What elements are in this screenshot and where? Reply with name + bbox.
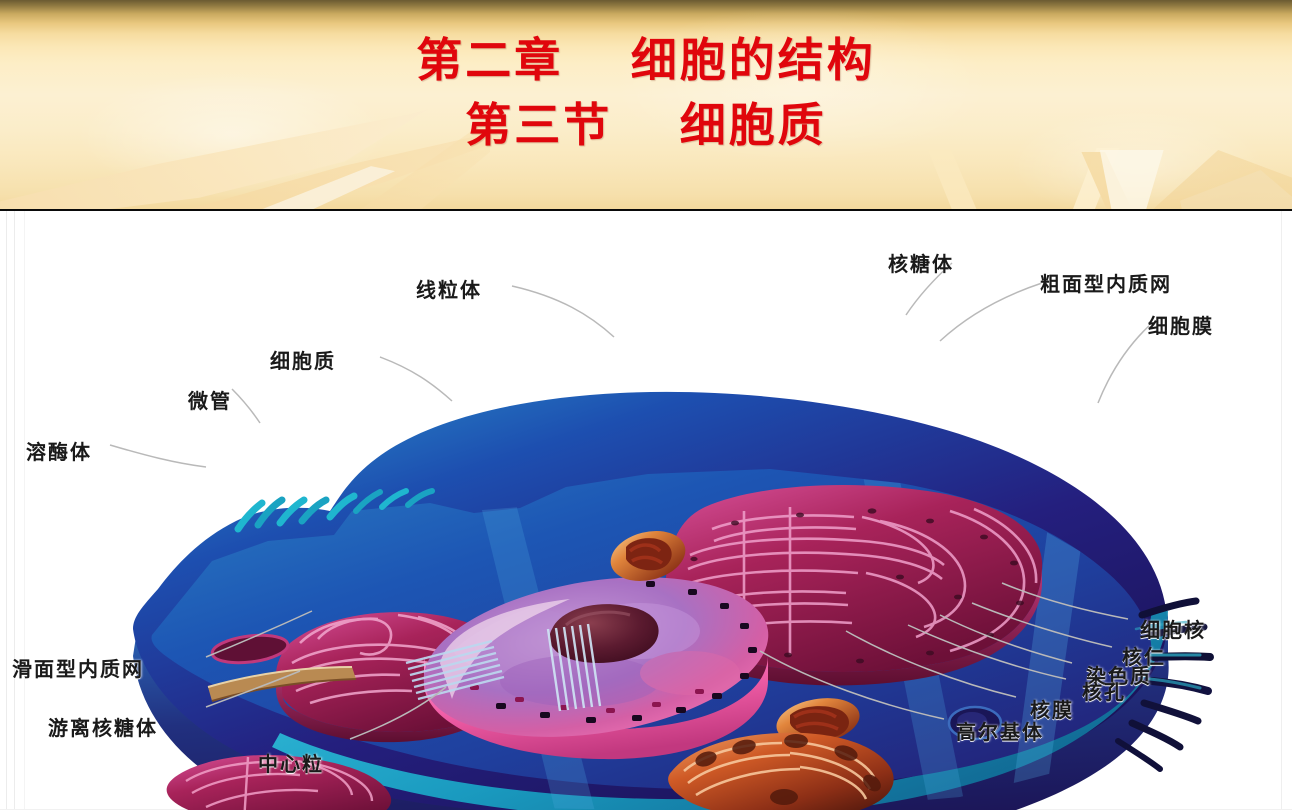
leader-cell-membrane [1098, 323, 1152, 403]
label-cytoplasm: 细胞质 [270, 345, 336, 374]
cell-diagram-figure: 线粒体 核糖体 粗面型内质网 细胞膜 细胞质 微管 溶酶体 滑面型内质网 游离核… [0, 211, 1292, 810]
label-cell-membrane: 细胞膜 [1148, 310, 1214, 339]
header-divider-rule [0, 209, 1292, 211]
label-centriole: 中心粒 [258, 748, 324, 777]
label-lysosome: 溶酶体 [26, 436, 92, 465]
chapter-title-line: 第二章 细胞的结构 [0, 28, 1292, 93]
section-title-line: 第三节 细胞质 [0, 93, 1292, 158]
label-ribosome: 核糖体 [888, 248, 954, 277]
label-nuclear-pore: 核孔 [1082, 676, 1126, 705]
slide: 第二章 细胞的结构 第三节 细胞质 [0, 0, 1292, 810]
label-free-ribosome: 游离核糖体 [48, 712, 158, 741]
section-number: 第三节 [465, 99, 612, 151]
section-title: 细胞质 [680, 99, 827, 151]
title-block: 第二章 细胞的结构 第三节 细胞质 [0, 28, 1292, 159]
leader-microtubule [232, 389, 260, 423]
leader-mitochondria [512, 286, 614, 337]
chapter-title: 细胞的结构 [631, 34, 876, 86]
label-golgi: 高尔基体 [956, 716, 1044, 745]
chapter-number: 第二章 [416, 34, 563, 86]
eukaryotic-cell-illustration [0, 211, 1292, 810]
label-rough-er: 粗面型内质网 [1040, 268, 1172, 297]
label-microtubule: 微管 [188, 385, 232, 414]
leader-rough-er [940, 283, 1042, 341]
label-mitochondria: 线粒体 [416, 274, 482, 303]
leader-cytoplasm [380, 357, 452, 401]
label-smooth-er: 滑面型内质网 [12, 653, 144, 682]
leader-lysosome [110, 445, 206, 467]
label-nucleus: 细胞核 [1140, 614, 1206, 643]
slide-header-banner: 第二章 细胞的结构 第三节 细胞质 [0, 0, 1292, 211]
